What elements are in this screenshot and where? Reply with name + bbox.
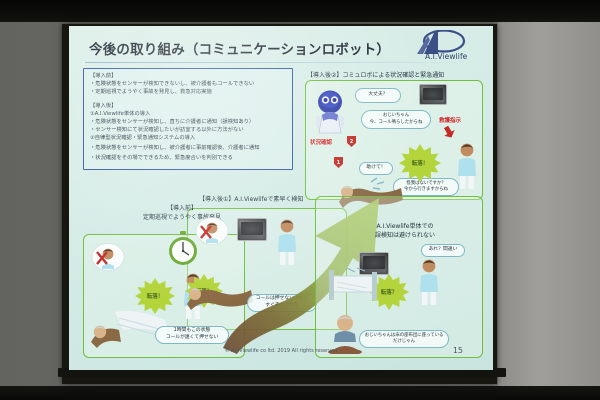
slide-copyright: © A.I.Viewlife co ltd. 2019 All rights r… [69, 348, 493, 354]
section-after1-note: A.I.Viewlife単体での 誤検知は避けられない [337, 222, 473, 241]
empty-bed-icon [327, 266, 383, 312]
sensor-disabled-icon-before [91, 242, 125, 272]
floor-dark-band [0, 386, 600, 400]
presentation-slide: 今後の取り組み（コミュニケーションロボット） A.I.Viewlife 【導入前… [69, 26, 493, 370]
slide-page-number: 15 [453, 346, 463, 355]
intro-line: ②自律型状況確認・緊急通知システムの導入 [90, 136, 195, 141]
intro-line: 【導入後】 [90, 104, 117, 109]
bubble-help-me: 助けて！ [359, 162, 393, 175]
intro-line: ・危険状態をセンサーが検知し、直ちに介護者に通知（誤検知あり） [90, 120, 254, 125]
intro-line: ・危険状態をセンサーが検知し、被介護者に事前確認後、介護者に通知 [90, 146, 260, 151]
intro-line: ・危険状態をセンサーが検知できないし、被介護者もコールできない [90, 82, 254, 87]
monitor-device-after2 [419, 84, 447, 105]
company-logo: A.I.Viewlife [397, 30, 483, 64]
communication-robot-icon [313, 88, 347, 134]
bubble-robot-called: おじいちゃん 今、コール鳴らしたからね [361, 110, 431, 129]
status-check-label: 状況確認 [310, 138, 332, 146]
intro-line: ・センサー検知にて状況確認したいが訪室する以外に方法がない [90, 128, 244, 133]
ceiling-dark-band [0, 0, 600, 22]
caregiver-figure-after2 [455, 142, 479, 190]
bubble-are-you-ok: 大丈夫？ [355, 88, 401, 103]
slide-title: 今後の取り組み（コミュニケーションロボット） [89, 38, 390, 58]
logo-text: A.I.Viewlife [425, 52, 467, 61]
intro-line: ・状況確認をその場でできるため、緊急度合いを判別できる [90, 156, 233, 161]
section-before-label: 【導入前】 [167, 205, 197, 212]
bubble-huh-wrong: あれ？間違い [421, 244, 465, 257]
intro-line: 【導入前】 [90, 74, 117, 79]
wall-right-surface [498, 22, 600, 388]
caregiver-figure-note [417, 258, 441, 306]
intro-line: ①A.I.Viewlife単体の導入 [90, 112, 150, 117]
intro-text-box: 【導入前】 ・危険状態をセンサーが検知できないし、被介護者もコールできない ・定… [83, 68, 293, 170]
section-after2-label: 【導入後②】コミュロボによる状況確認と緊急通知 [307, 70, 444, 79]
room-photo: 今後の取り組み（コミュニケーションロボット） A.I.Viewlife 【導入前… [0, 0, 600, 400]
bubble-just-sitting: おじいちゃんは床の座布団に座っているだけじゃん [359, 330, 449, 348]
rescue-instruction-label: 救護指示 [439, 116, 461, 124]
intro-line: ・定期巡視でようやく事故を発見し、救急対応実施 [90, 90, 212, 95]
